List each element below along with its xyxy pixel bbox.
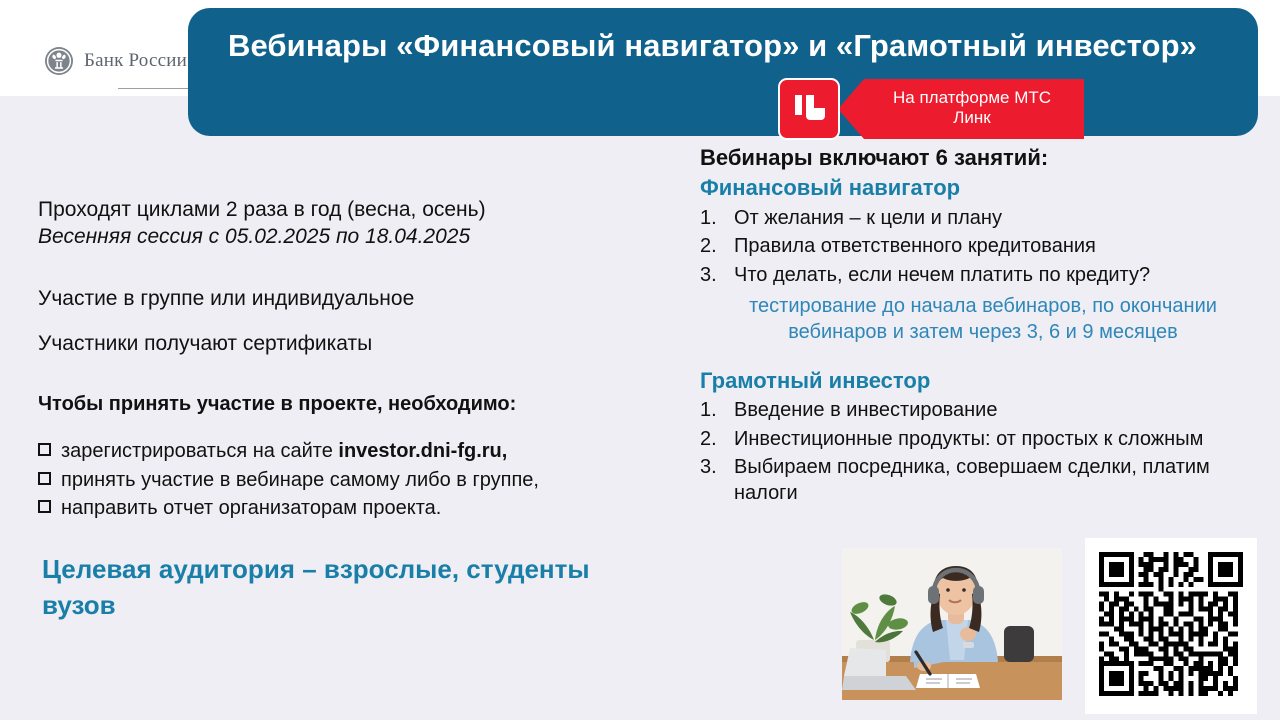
- platform-badge-text: На платформе МТС Линк: [874, 88, 1070, 129]
- course-2-list: 1. Введение в инвестирование 2. Инвестиц…: [700, 398, 1266, 506]
- woman-with-headphones-at-laptop-photo: [842, 548, 1062, 700]
- list-item: 3. Выбираем посредника, совершаем сделки…: [700, 455, 1266, 506]
- bank-of-russia-logo: Банк России: [44, 46, 187, 76]
- list-item: 2. Инвестиционные продукты: от простых к…: [700, 427, 1266, 453]
- target-audience: Целевая аудитория – взрослые, студенты в…: [42, 552, 642, 624]
- list-item: 3. Что делать, если нечем платить по кре…: [700, 263, 1266, 289]
- list-item-label: Введение в инвестирование: [734, 398, 1266, 424]
- list-item-number: 3.: [700, 455, 734, 481]
- checkbox-icon: [38, 472, 51, 485]
- platform-badge-line1: На платформе МТС: [874, 88, 1070, 108]
- course-2-title: Грамотный инвестор: [700, 367, 1266, 396]
- platform-badge: На платформе МТС Линк: [778, 78, 1084, 140]
- mts-link-logo-icon: [778, 78, 840, 140]
- list-item-number: 2.: [700, 234, 734, 260]
- requirement-item: зарегистрироваться на сайте investor.dni…: [38, 437, 668, 465]
- list-item-label: Инвестиционные продукты: от простых к сл…: [734, 427, 1266, 453]
- session-dates-line: Весенняя сессия с 05.02.2025 по 18.04.20…: [38, 223, 668, 250]
- list-item: 1. От желания – к цели и плану: [700, 206, 1266, 232]
- page-title: Вебинары «Финансовый навигатор» и «Грамо…: [228, 26, 1224, 66]
- bank-of-russia-label: Банк России: [84, 50, 187, 72]
- list-item-label: Правила ответственного кредитования: [734, 234, 1266, 260]
- testing-note: тестирование до начала вебинаров, по око…: [700, 293, 1266, 345]
- list-item-number: 1.: [700, 398, 734, 424]
- platform-badge-line2: Линк: [874, 108, 1070, 128]
- requirement-item: направить отчет организаторам проекта.: [38, 494, 668, 522]
- list-item-number: 1.: [700, 206, 734, 232]
- list-item-label: Что делать, если нечем платить по кредит…: [734, 263, 1266, 289]
- schedule-line: Проходят циклами 2 раза в год (весна, ос…: [38, 196, 668, 223]
- course-1-title: Финансовый навигатор: [700, 174, 1266, 203]
- list-item: 2. Правила ответственного кредитования: [700, 234, 1266, 260]
- course-1-list: 1. От желания – к цели и плану 2. Правил…: [700, 206, 1266, 289]
- requirement-item: принять участие в вебинаре самому либо в…: [38, 466, 668, 494]
- slide: Банк России Вебинары «Финансовый навигат…: [0, 0, 1280, 720]
- webinars-heading: Вебинары включают 6 занятий:: [700, 144, 1266, 172]
- list-item: 1. Введение в инвестирование: [700, 398, 1266, 424]
- requirements-title: Чтобы принять участие в проекте, необход…: [38, 391, 668, 417]
- participation-mode-line: Участие в группе или индивидуальное: [38, 285, 668, 312]
- requirement-text: направить отчет организаторам проекта.: [61, 494, 441, 522]
- list-item-number: 2.: [700, 427, 734, 453]
- requirements-list: зарегистрироваться на сайте investor.dni…: [38, 437, 668, 522]
- checkbox-icon: [38, 443, 51, 456]
- left-column: Проходят циклами 2 раза в год (весна, ос…: [38, 196, 668, 522]
- checkbox-icon: [38, 500, 51, 513]
- right-column: Вебинары включают 6 занятий: Финансовый …: [700, 144, 1266, 507]
- list-item-label: Выбираем посредника, совершаем сделки, п…: [734, 455, 1266, 506]
- qr-code[interactable]: [1085, 538, 1257, 714]
- bank-of-russia-emblem-icon: [44, 46, 74, 76]
- certificates-line: Участники получают сертификаты: [38, 330, 668, 357]
- requirement-text: принять участие в вебинаре самому либо в…: [61, 466, 539, 494]
- list-item-number: 3.: [700, 263, 734, 289]
- list-item-label: От желания – к цели и плану: [734, 206, 1266, 232]
- requirement-text: зарегистрироваться на сайте investor.dni…: [61, 437, 507, 465]
- title-banner: Вебинары «Финансовый навигатор» и «Грамо…: [188, 8, 1258, 136]
